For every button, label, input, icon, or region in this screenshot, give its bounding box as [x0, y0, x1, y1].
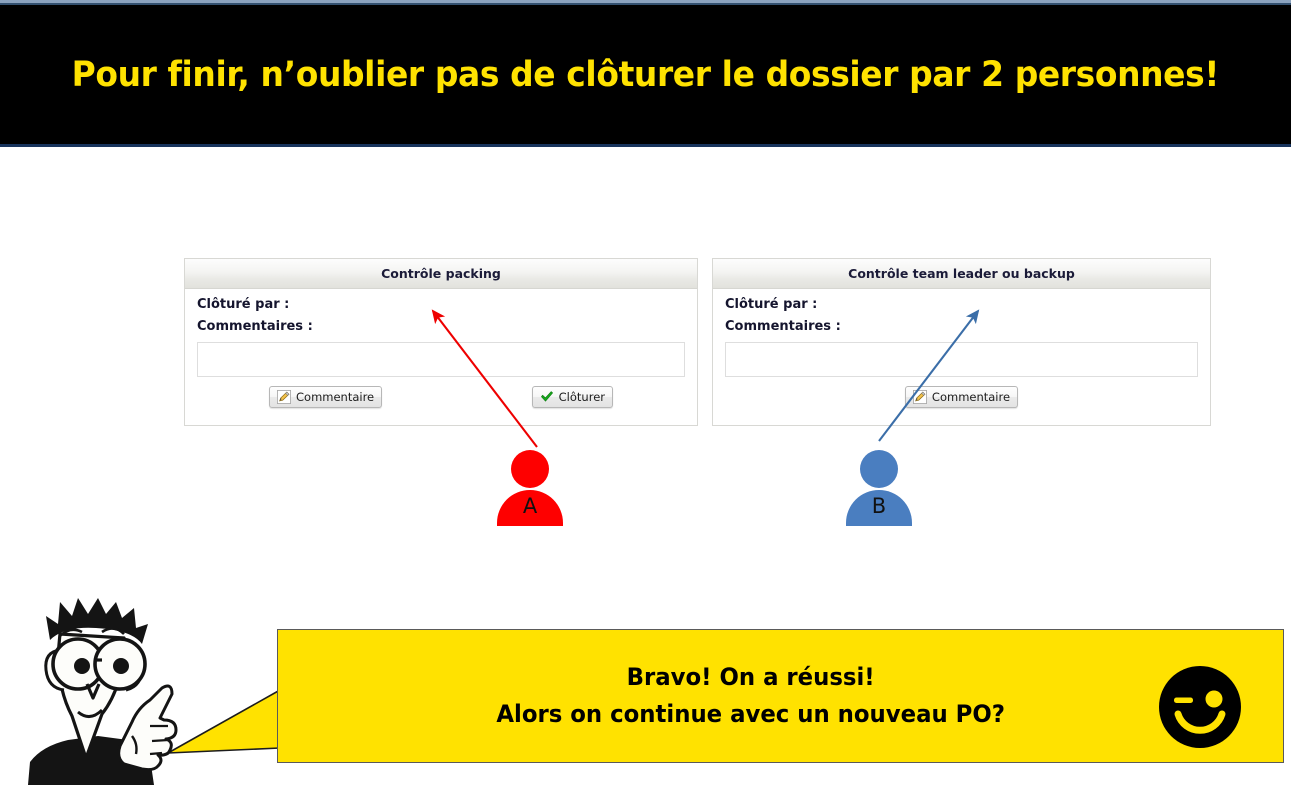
speech-line-2: Alors on continue avec un nouveau PO? [496, 696, 1005, 733]
closed-by-label: Clôturé par : [197, 298, 685, 311]
page-title: Pour finir, n’oublier pas de clôturer le… [72, 55, 1219, 95]
title-banner: Pour finir, n’oublier pas de clôturer le… [0, 5, 1291, 147]
slide-top-rule [0, 0, 1291, 4]
person-label: B [846, 496, 912, 517]
person-label: A [497, 496, 563, 517]
person-head-icon [860, 450, 898, 488]
panel-title: Contrôle packing [381, 266, 501, 281]
comment-input[interactable] [197, 342, 685, 377]
panel-body: Clôturé par : Commentaires : Commentaire [713, 289, 1210, 408]
panel-header: Contrôle team leader ou backup [713, 259, 1210, 289]
commentaire-button[interactable]: Commentaire [269, 386, 382, 408]
person-head-icon [511, 450, 549, 488]
panel-button-row: Commentaire Clôturer [197, 386, 685, 408]
commentaire-button[interactable]: Commentaire [905, 386, 1018, 408]
button-label: Clôturer [559, 390, 605, 404]
closed-by-label: Clôturé par : [725, 298, 1198, 311]
panel-controle-team-leader: Contrôle team leader ou backup Clôturé p… [712, 258, 1211, 426]
comment-input[interactable] [725, 342, 1198, 377]
green-check-icon [540, 390, 554, 404]
speech-line-1: Bravo! On a réussi! [496, 659, 1005, 696]
panel-body: Clôturé par : Commentaires : Commentaire [185, 289, 697, 408]
winking-smiley-icon [1157, 664, 1243, 750]
pencil-icon [913, 390, 927, 404]
panel-controle-packing: Contrôle packing Clôturé par : Commentai… [184, 258, 698, 426]
panel-title: Contrôle team leader ou backup [848, 266, 1075, 281]
comments-label: Commentaires : [725, 320, 1198, 333]
slide-canvas: Pour finir, n’oublier pas de clôturer le… [0, 0, 1291, 785]
button-label: Commentaire [296, 390, 374, 404]
button-label: Commentaire [932, 390, 1010, 404]
speech-bubble-text: Bravo! On a réussi! Alors on continue av… [496, 659, 1005, 733]
pointing-cartoon-man [20, 586, 270, 785]
speech-bubble: Bravo! On a réussi! Alors on continue av… [277, 629, 1284, 763]
comments-label: Commentaires : [197, 320, 685, 333]
pencil-icon [277, 390, 291, 404]
panel-header: Contrôle packing [185, 259, 697, 289]
cloturer-button[interactable]: Clôturer [532, 386, 613, 408]
panel-button-row: Commentaire [725, 386, 1198, 408]
